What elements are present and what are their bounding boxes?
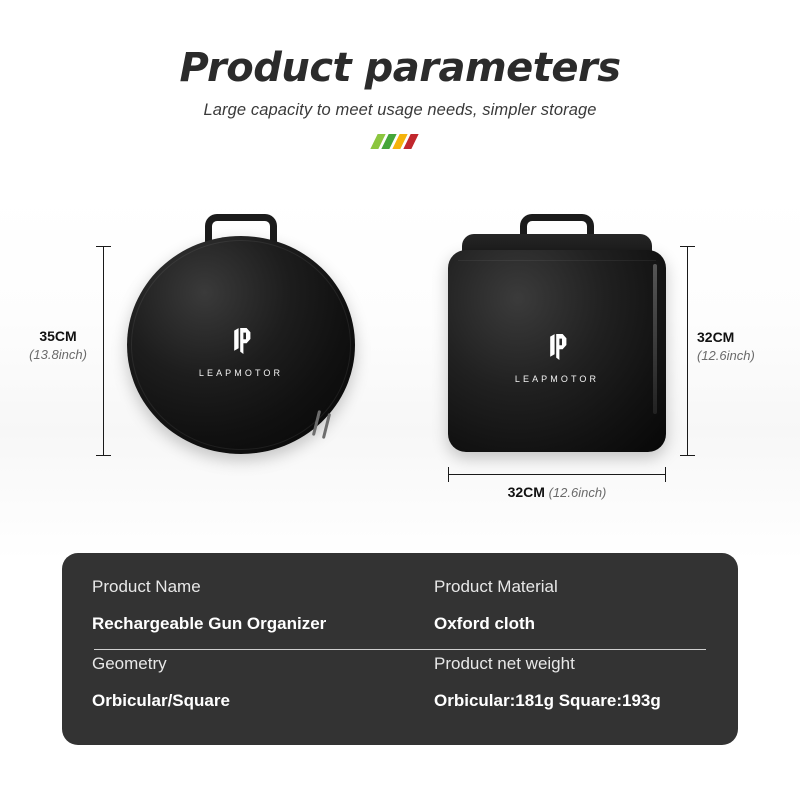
zipper-track [653,264,657,414]
spec-key: Product net weight [434,654,708,674]
dimension-value-inch: (13.8inch) [18,346,98,364]
product-images-stage: LEAPMOTOR LEAPMOTOR [0,196,800,516]
dimension-value-inch: (12.6inch) [697,347,789,365]
brand-wordmark: LEAPMOTOR [515,374,599,384]
dimension-line-bottom [448,474,666,475]
dimension-value-cm: 32CM [508,484,545,500]
leapmotor-logo-icon [229,326,254,356]
table-cell: Product net weight Orbicular:181g Square… [400,654,708,726]
dimension-value-inch: (12.6inch) [545,485,606,500]
zipper-pull-2 [322,413,331,439]
dimension-line-right [687,246,688,456]
page-subtitle: Large capacity to meet usage needs, simp… [0,101,800,120]
zipper-pulls [307,410,341,440]
spec-table: Product Name Rechargeable Gun Organizer … [62,553,738,745]
spec-value: Rechargeable Gun Organizer [92,614,400,634]
spec-key: Product Name [92,577,400,597]
dimension-label-right: 32CM (12.6inch) [697,328,789,364]
product-image-orbicular-bag: LEAPMOTOR [127,214,355,454]
dimension-value-cm: 35CM [18,327,98,346]
table-cell: Product Name Rechargeable Gun Organizer [92,577,400,649]
brand-logo-square: LEAPMOTOR [482,332,632,387]
spec-value: Oxford cloth [434,614,708,634]
page-title: Product parameters [0,46,800,90]
header: Product parameters Large capacity to mee… [0,46,800,149]
bag-seam [458,260,656,261]
spec-value: Orbicular:181g Square:193g [434,691,708,711]
dimension-value-cm: 32CM [697,328,789,347]
brand-wordmark: LEAPMOTOR [199,368,283,378]
spec-key: Product Material [434,577,708,597]
zipper-pull-1 [312,410,321,436]
spec-value: Orbicular/Square [92,691,400,711]
brand-logo-round: LEAPMOTOR [166,326,316,381]
table-cell: Geometry Orbicular/Square [92,654,400,726]
dimension-line-left [103,246,104,456]
accent-stripes-decoration [372,134,428,149]
table-row: Geometry Orbicular/Square Product net we… [92,650,708,726]
dimension-label-bottom: 32CM (12.6inch) [448,482,666,504]
table-cell: Product Material Oxford cloth [400,577,708,649]
spec-key: Geometry [92,654,400,674]
table-row: Product Name Rechargeable Gun Organizer … [92,573,708,649]
product-parameters-page: Product parameters Large capacity to mee… [0,0,800,800]
leapmotor-logo-icon [545,332,570,362]
product-image-square-bag: LEAPMOTOR [448,214,666,452]
dimension-label-left: 35CM (13.8inch) [18,327,98,363]
